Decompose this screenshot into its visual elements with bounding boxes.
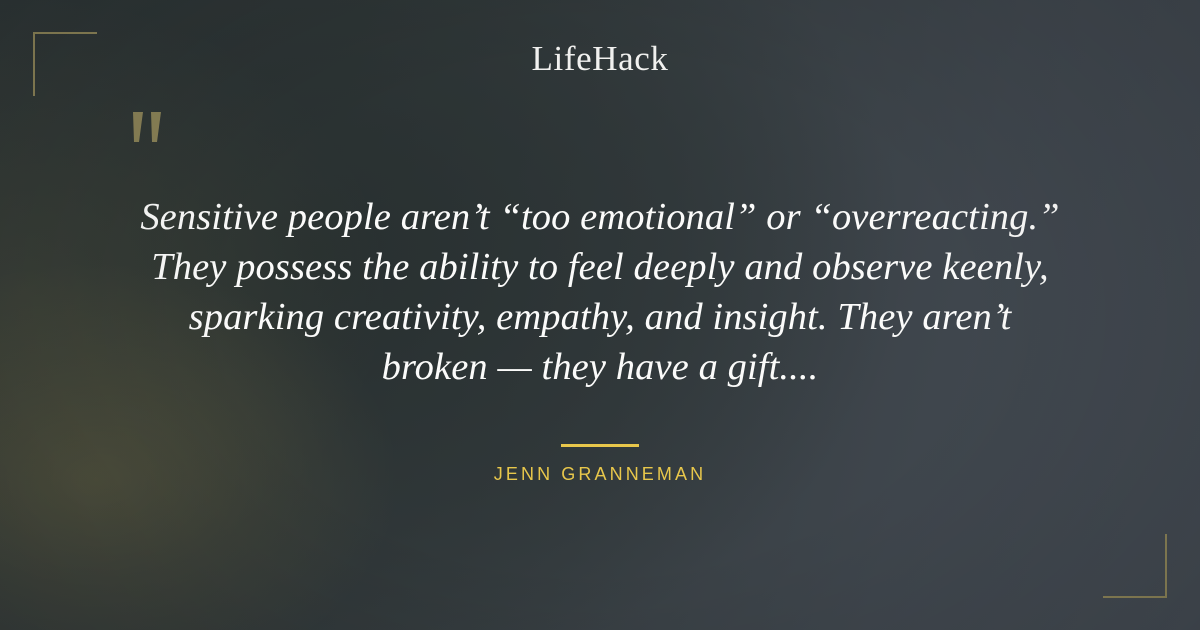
corner-bracket-bottom-right [1103,534,1167,598]
quote-line: Sensitive people aren’t “too emotional” … [0,192,1200,242]
divider-container [0,434,1200,452]
quote-card: LifeHack Sensitive people aren’t “too em… [0,0,1200,630]
quote-mark-icon [128,108,172,164]
brand-logo[interactable]: LifeHack [0,41,1200,76]
divider-rule [561,444,639,447]
quote-author: JENN GRANNEMAN [0,464,1200,485]
quote-text: Sensitive people aren’t “too emotional” … [0,192,1200,392]
quote-line: sparking creativity, empathy, and insigh… [0,292,1200,342]
quote-line: broken — they have a gift.... [0,342,1200,392]
quote-line: They possess the ability to feel deeply … [0,242,1200,292]
